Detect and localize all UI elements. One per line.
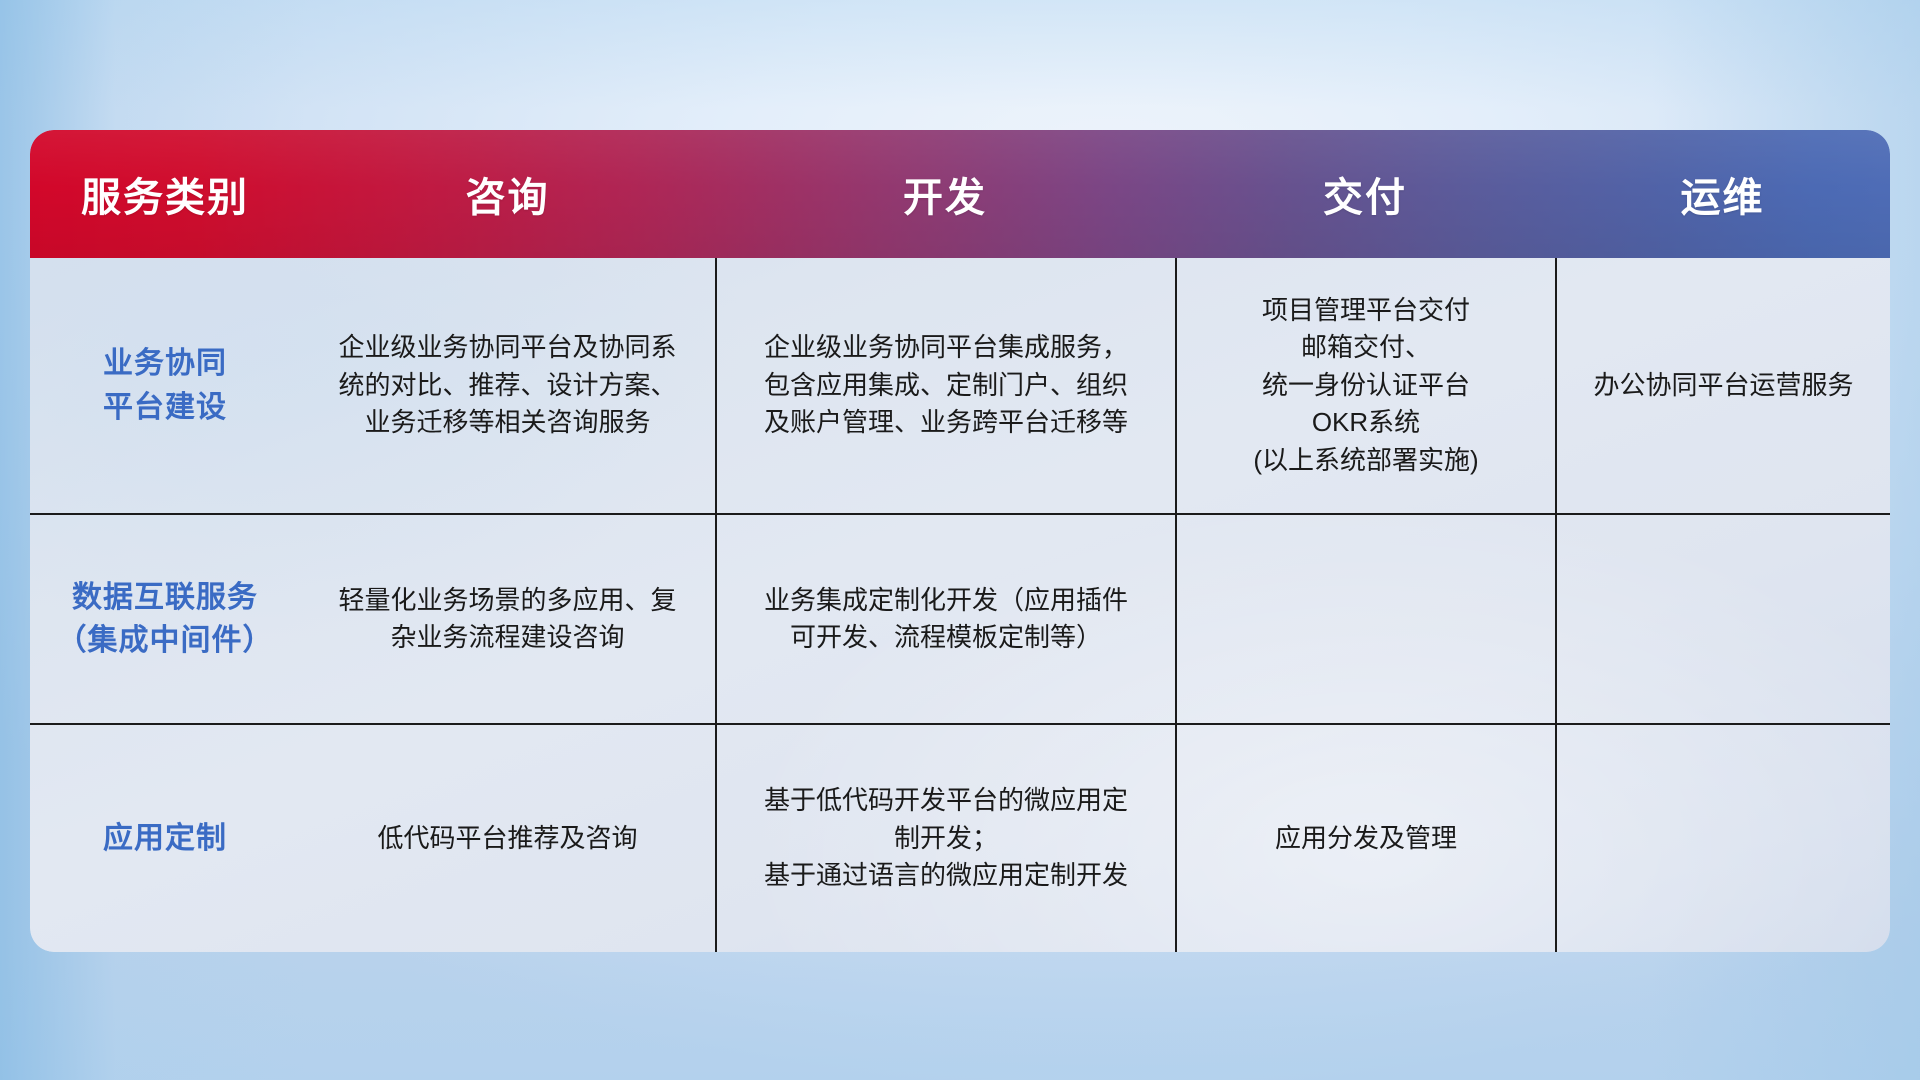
- table-header-row: 服务类别 咨询 开发 交付 运维: [30, 130, 1890, 258]
- table-body: 业务协同 平台建设 企业级业务协同平台及协同系 统的对比、推荐、设计方案、 业务…: [30, 258, 1890, 952]
- cell-category: 业务协同 平台建设: [30, 258, 300, 513]
- cell-category: 数据互联服务 （集成中间件）: [30, 515, 300, 723]
- cell-consulting: 低代码平台推荐及咨询: [300, 725, 715, 952]
- table-row: 业务协同 平台建设 企业级业务协同平台及协同系 统的对比、推荐、设计方案、 业务…: [30, 258, 1890, 515]
- service-category-table: 服务类别 咨询 开发 交付 运维 业务协同 平台建设 企业级业务协同平台及协同系…: [30, 130, 1890, 952]
- table-row: 应用定制 低代码平台推荐及咨询 基于低代码开发平台的微应用定 制开发； 基于通过…: [30, 725, 1890, 952]
- column-header-operations: 运维: [1555, 130, 1890, 258]
- cell-development: 业务集成定制化开发（应用插件 可开发、流程模板定制等）: [715, 515, 1175, 723]
- cell-operations: [1555, 725, 1890, 952]
- cell-delivery: 项目管理平台交付 邮箱交付、 统一身份认证平台 OKR系统 (以上系统部署实施): [1175, 258, 1555, 513]
- cell-operations: 办公协同平台运营服务: [1555, 258, 1890, 513]
- column-header-development: 开发: [715, 130, 1175, 258]
- cell-consulting: 企业级业务协同平台及协同系 统的对比、推荐、设计方案、 业务迁移等相关咨询服务: [300, 258, 715, 513]
- cell-delivery: 应用分发及管理: [1175, 725, 1555, 952]
- table-row: 数据互联服务 （集成中间件） 轻量化业务场景的多应用、复 杂业务流程建设咨询 业…: [30, 515, 1890, 725]
- cell-consulting: 轻量化业务场景的多应用、复 杂业务流程建设咨询: [300, 515, 715, 723]
- column-header-delivery: 交付: [1175, 130, 1555, 258]
- cell-development: 基于低代码开发平台的微应用定 制开发； 基于通过语言的微应用定制开发: [715, 725, 1175, 952]
- cell-development: 企业级业务协同平台集成服务， 包含应用集成、定制门户、组织 及账户管理、业务跨平…: [715, 258, 1175, 513]
- cell-delivery: [1175, 515, 1555, 723]
- cell-operations: [1555, 515, 1890, 723]
- column-header-category: 服务类别: [30, 130, 300, 258]
- column-header-consulting: 咨询: [300, 130, 715, 258]
- cell-category: 应用定制: [30, 725, 300, 952]
